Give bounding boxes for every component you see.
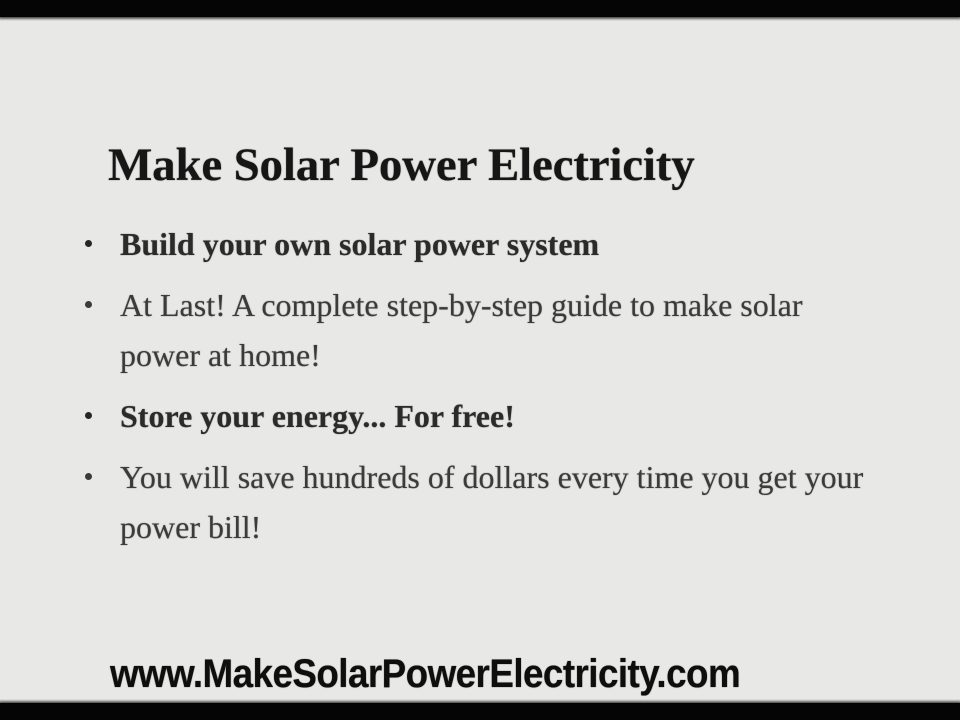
list-item: At Last! A complete step-by-step guide t… — [76, 280, 876, 380]
bullet-list: Build your own solar power system At Las… — [76, 219, 876, 563]
bullet-dot-icon — [85, 473, 92, 480]
list-item: Build your own solar power system — [76, 219, 876, 269]
bullet-dot-icon — [85, 412, 92, 419]
list-item: You will save hundreds of dollars every … — [76, 452, 876, 552]
list-item-label: Build your own solar power system — [120, 226, 599, 262]
list-item: Store your energy... For free! — [76, 391, 876, 441]
page-title: Make Solar Power Electricity — [108, 136, 868, 194]
list-item-label: Store your energy... For free! — [120, 398, 515, 434]
letterbox-bar-bottom — [0, 703, 960, 720]
bullet-dot-icon — [85, 301, 92, 308]
footer-website-url: www.MakeSolarPowerElectricity.com — [110, 650, 809, 698]
list-item-label: At Last! A complete step-by-step guide t… — [120, 287, 803, 373]
slide-content: Make Solar Power Electricity Build your … — [0, 17, 960, 703]
slide-canvas: Make Solar Power Electricity Build your … — [0, 0, 960, 720]
bullet-dot-icon — [85, 240, 92, 247]
letterbox-bar-top — [0, 0, 960, 17]
list-item-label: You will save hundreds of dollars every … — [120, 459, 863, 545]
